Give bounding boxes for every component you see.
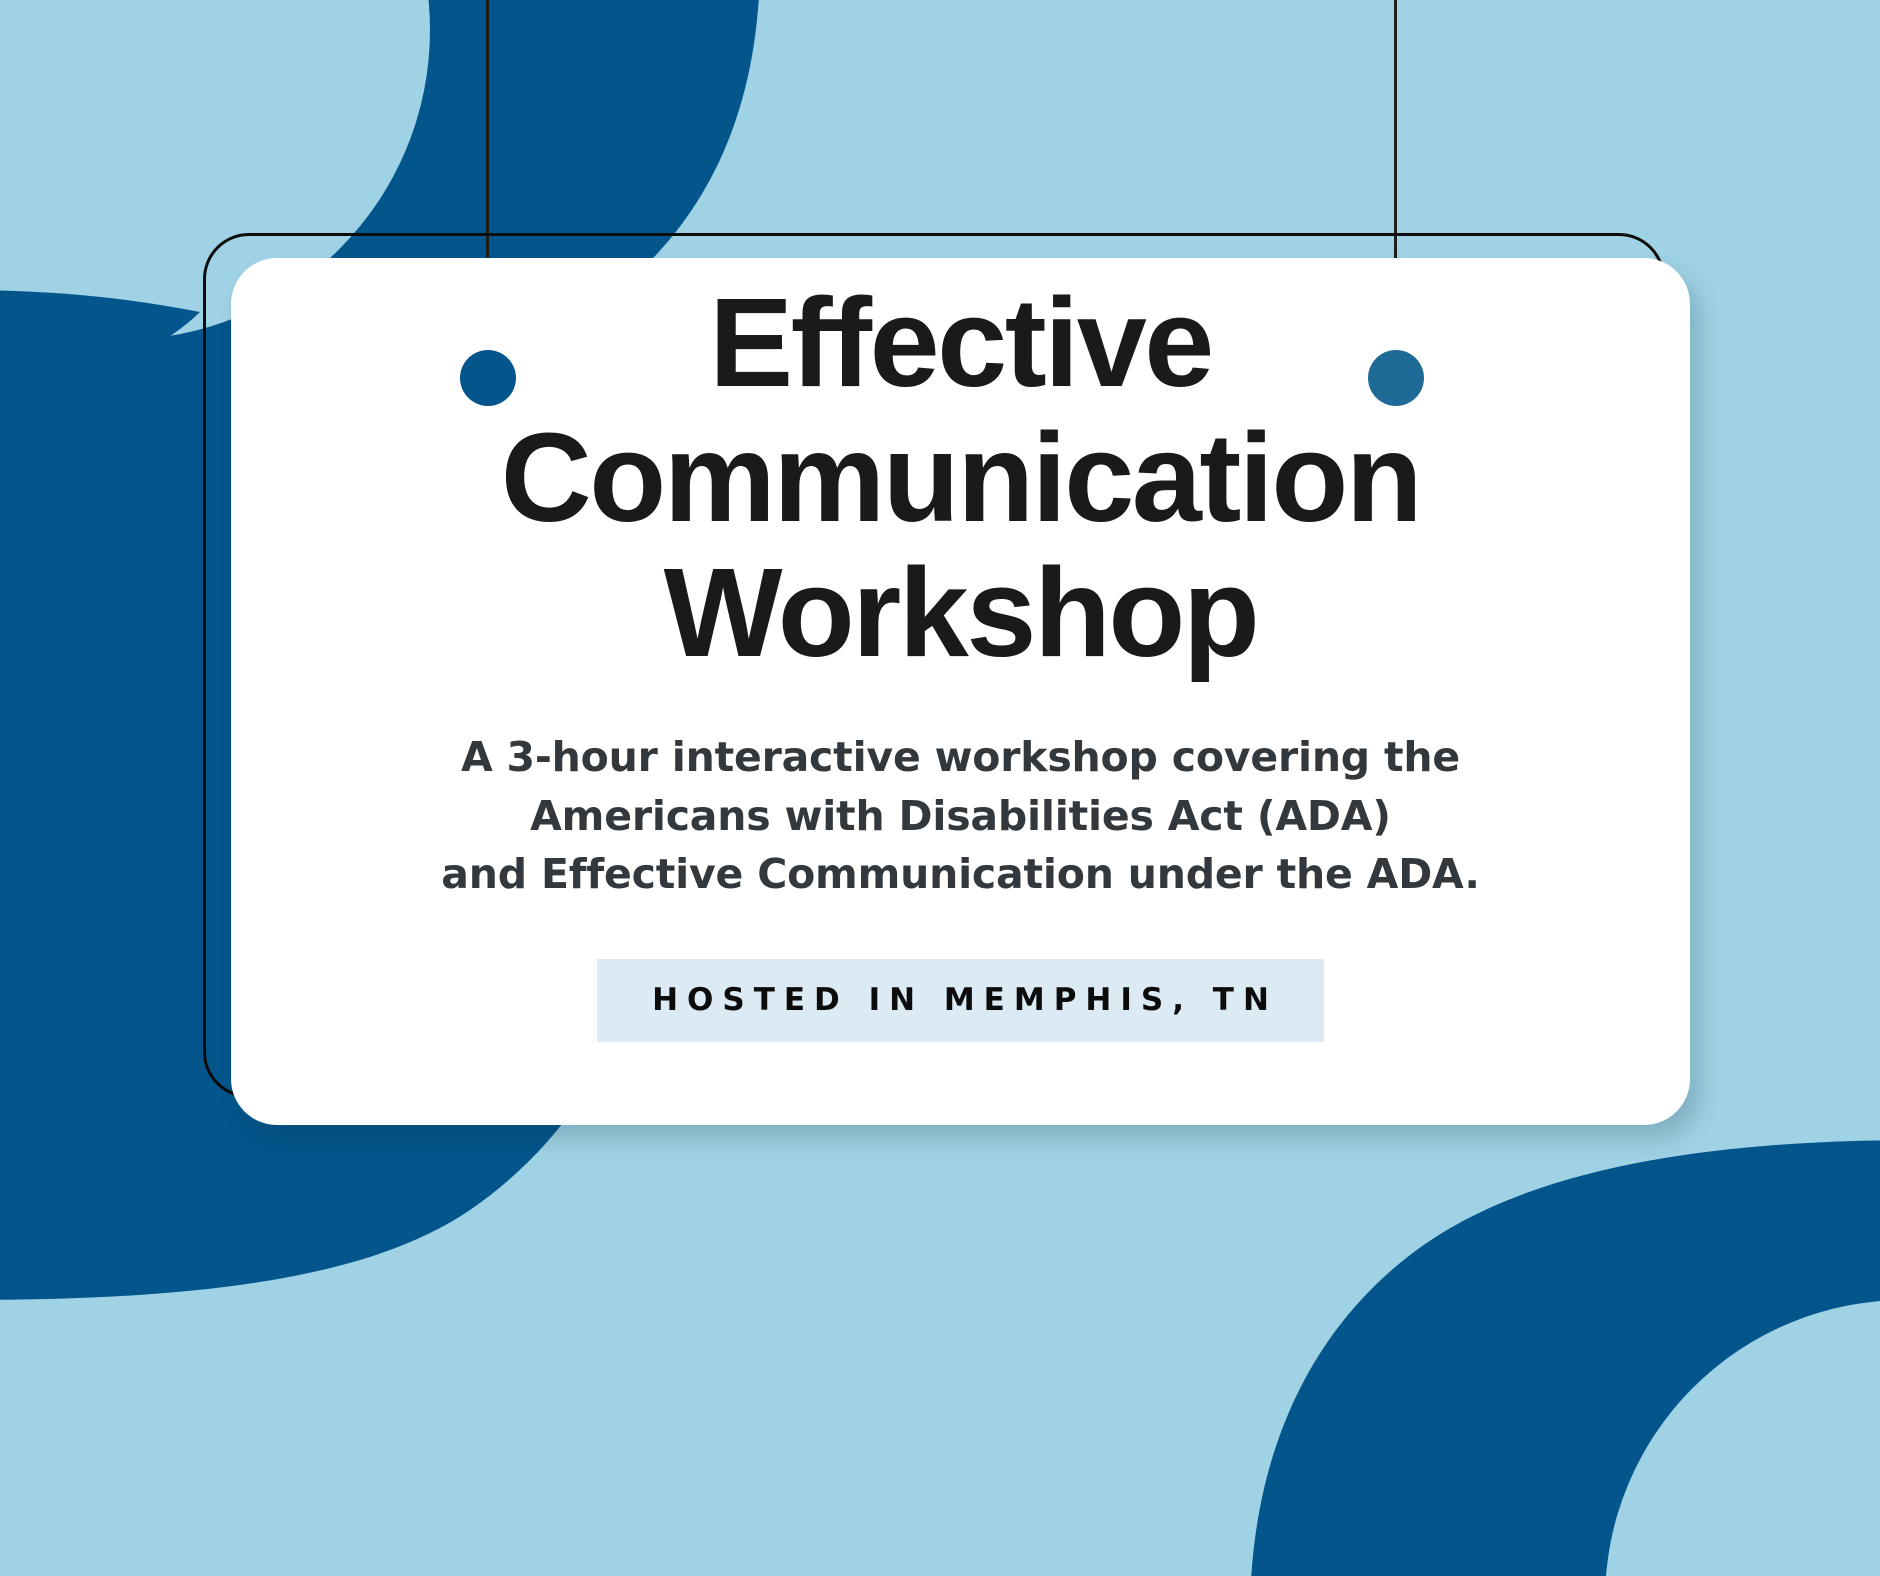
hanging-pin-left	[460, 350, 516, 406]
title-line-3: Workshop	[501, 546, 1421, 681]
page-title: Effective Communication Workshop	[431, 276, 1491, 680]
title-line-2: Communication	[501, 411, 1421, 546]
subtitle-line-2: Americans with Disabilities Act (ADA)	[441, 787, 1479, 845]
subtitle-line-1: A 3-hour interactive workshop covering t…	[441, 728, 1479, 786]
title-line-1: Effective	[501, 276, 1421, 411]
location-badge: HOSTED IN MEMPHIS, TN	[597, 959, 1324, 1042]
badge-container: HOSTED IN MEMPHIS, TN	[231, 959, 1690, 1042]
poster-canvas: Effective Communication Workshop A 3-hou…	[0, 0, 1880, 1576]
hanging-pin-right	[1368, 350, 1424, 406]
page-subtitle: A 3-hour interactive workshop covering t…	[441, 728, 1479, 903]
sign-card: Effective Communication Workshop A 3-hou…	[231, 258, 1690, 1125]
subtitle-line-3: and Effective Communication under the AD…	[441, 845, 1479, 903]
sign-card-content: Effective Communication Workshop A 3-hou…	[231, 258, 1690, 1125]
